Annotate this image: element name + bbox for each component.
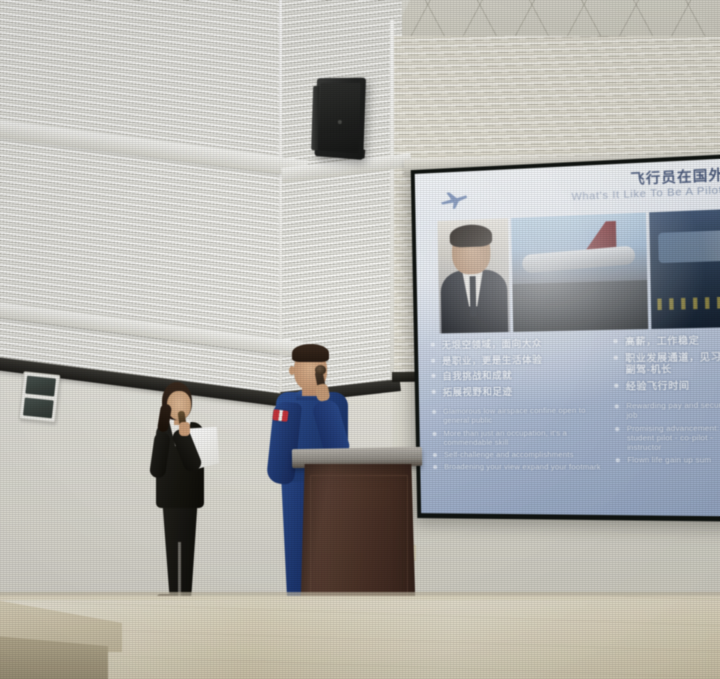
slide-photo-aircraft — [511, 212, 648, 331]
portrait-tie — [470, 276, 477, 317]
slide-column-right: 高薪，工作稳定 职业发展通道，见习-副驾-机长 经验飞行时间 Rewarding… — [612, 334, 720, 510]
wall-panel-left — [0, 0, 282, 420]
slide-photo-portrait — [437, 218, 510, 333]
list-item: Promising advancement: student pilot - c… — [614, 423, 720, 452]
speaker-driver-dot — [337, 120, 341, 124]
list-item: 职业发展通道，见习-副驾-机长 — [612, 350, 720, 376]
aircraft-fuselage — [522, 245, 636, 273]
list-item: Broadening your view expand your footmar… — [432, 462, 606, 472]
slide-column-left: 无垠空领域，面向大众 是职业，更是生活体验 自我挑战和成就 拓展视野和足迹 Gl… — [430, 336, 607, 509]
list-item: More than just an occupation, it's a com… — [431, 428, 605, 447]
wall-control-panel[interactable] — [19, 371, 61, 423]
cockpit-instrument-panel — [658, 297, 720, 311]
list-item: 高薪，工作稳定 — [612, 334, 720, 348]
slide-photo-cockpit — [649, 209, 720, 329]
bullet-list-left-english: Glamorous low airspace confine open to g… — [431, 406, 606, 472]
slide-bullet-columns: 无垠空领域，面向大众 是职业，更是生活体验 自我挑战和成就 拓展视野和足迹 Gl… — [430, 334, 720, 510]
list-item: Self-challenge and accomplishments — [432, 450, 606, 459]
list-item: Rewarding pay and secure job — [613, 400, 720, 420]
cockpit-windscreen — [658, 230, 720, 263]
list-item: Glamorous low airspace confine open to g… — [431, 406, 605, 426]
list-item: 经验飞行时间 — [613, 379, 720, 392]
pilot-ear — [289, 366, 295, 375]
bullet-list-right-chinese: 高薪，工作稳定 职业发展通道，见习-副驾-机长 经验飞行时间 — [612, 334, 720, 393]
photo-canvas: 飞行员在国外 What's It Like To Be A Pilot — [0, 0, 720, 679]
control-panel-display-upper — [25, 376, 56, 397]
projection-screen: 飞行员在国外 What's It Like To Be A Pilot — [415, 158, 720, 516]
interpreter-hand — [179, 422, 190, 436]
apron-ground — [512, 280, 648, 332]
ceiling-speaker — [315, 78, 366, 160]
list-item: Flown life gain up sum — [614, 455, 720, 465]
bullet-list-left-chinese: 无垠空领域，面向大众 是职业，更是生活体验 自我挑战和成就 拓展视野和足迹 — [430, 336, 605, 398]
airplane-icon — [439, 189, 469, 210]
list-item: 无垠空领域，面向大众 — [430, 336, 604, 351]
list-item: 自我挑战和成就 — [430, 369, 604, 383]
pilot-shoulder-flag-patch — [272, 409, 288, 422]
control-panel-display-lower — [23, 397, 54, 418]
wall-corner-seam-right — [390, 20, 394, 380]
pilot-hair — [292, 344, 329, 362]
pilot-hand — [314, 383, 330, 402]
list-item: 拓展视野和足迹 — [431, 385, 605, 399]
speaker-grille — [318, 83, 360, 154]
pilot-microphone-head — [315, 365, 326, 375]
person-interpreter — [148, 382, 212, 620]
projection-screen-frame: 飞行员在国外 What's It Like To Be A Pilot — [411, 154, 720, 522]
interpreter-leg-gap — [178, 542, 181, 598]
portrait-hair — [450, 224, 493, 248]
slide-photo-strip — [437, 209, 720, 334]
bullet-list-right-english: Rewarding pay and secure job Promising a… — [613, 400, 720, 464]
list-item: 是职业，更是生活体验 — [430, 352, 604, 367]
